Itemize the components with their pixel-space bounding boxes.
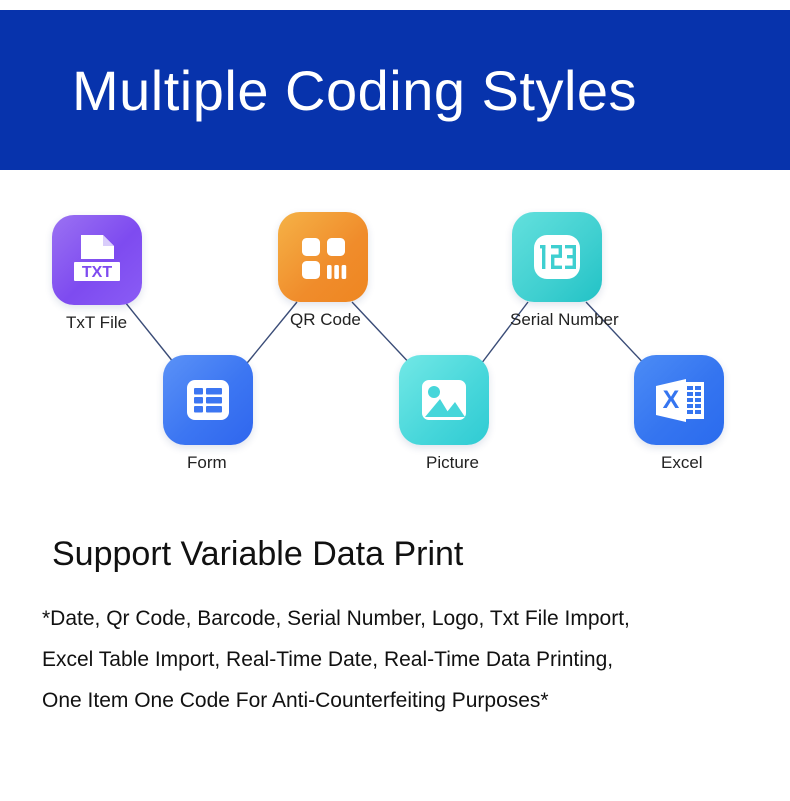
excel-tile[interactable]: X — [634, 355, 724, 445]
support-detail-list: *Date, Qr Code, Barcode, Serial Number, … — [42, 598, 752, 721]
node-label-form: Form — [187, 453, 227, 473]
support-detail-line: One Item One Code For Anti-Counterfeitin… — [42, 680, 752, 721]
serial-number-123-icon — [512, 212, 602, 302]
excel-spreadsheet-icon: X — [634, 355, 724, 445]
page-title: Multiple Coding Styles — [72, 58, 637, 123]
picture-tile[interactable] — [399, 355, 489, 445]
node-label-txt-file: TxT File — [66, 313, 127, 333]
serial-number-tile[interactable] — [512, 212, 602, 302]
form-table-icon — [163, 355, 253, 445]
qr-code-icon — [278, 212, 368, 302]
txt-file-tile[interactable]: TXT — [52, 215, 142, 305]
promo-page: Multiple Coding Styles — [0, 0, 790, 801]
support-detail-line: Excel Table Import, Real-Time Date, Real… — [42, 639, 752, 680]
svg-text:TXT: TXT — [82, 264, 112, 281]
node-label-serial-number: Serial Number — [510, 310, 619, 330]
support-heading: Support Variable Data Print — [52, 535, 463, 574]
qr-code-tile[interactable] — [278, 212, 368, 302]
support-detail-line: *Date, Qr Code, Barcode, Serial Number, … — [42, 598, 752, 639]
node-label-qr-code: QR Code — [290, 310, 361, 330]
svg-text:X: X — [663, 386, 680, 414]
form-tile[interactable] — [163, 355, 253, 445]
txt-file-icon: TXT — [52, 215, 142, 305]
coding-styles-diagram: TXT TxT File QR Code — [0, 170, 790, 500]
node-label-excel: Excel — [661, 453, 703, 473]
node-label-picture: Picture — [426, 453, 479, 473]
picture-image-icon — [399, 355, 489, 445]
header-banner: Multiple Coding Styles — [0, 10, 790, 170]
